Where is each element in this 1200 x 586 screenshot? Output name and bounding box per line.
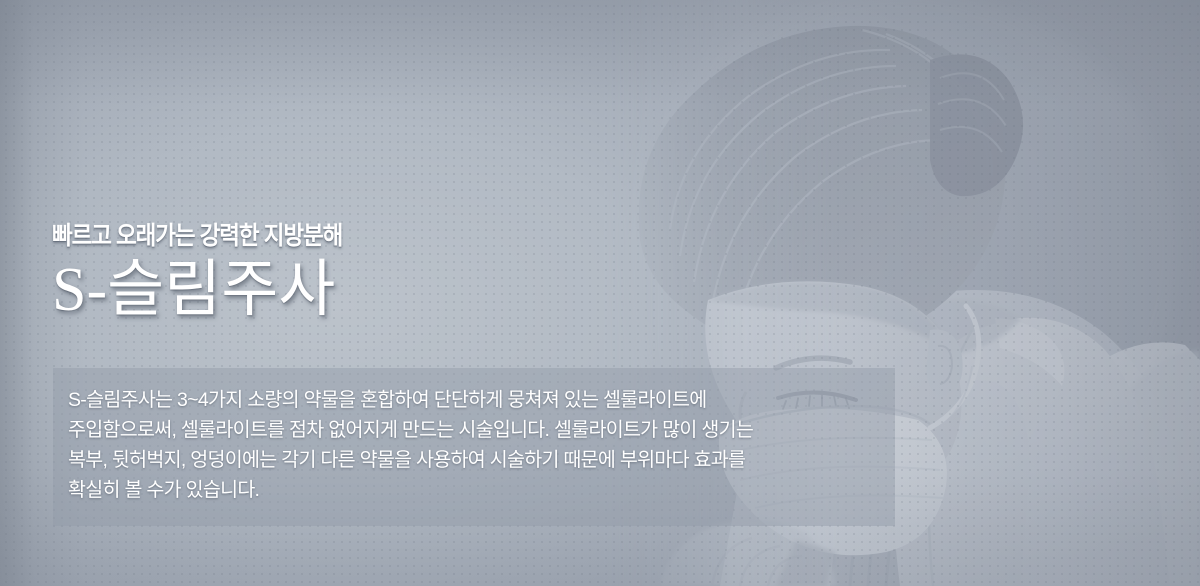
page-title: S-슬림주사 xyxy=(52,258,672,322)
description-line: S-슬림주사는 3~4가지 소량의 약물을 혼합하여 단단하게 뭉쳐져 있는 셀… xyxy=(68,385,888,415)
description-line: 확실히 볼 수가 있습니다. xyxy=(68,475,888,505)
kicker-text: 빠르고 오래가는 강력한 지방분해 xyxy=(52,222,610,250)
promo-banner: 빠르고 오래가는 강력한 지방분해 S-슬림주사 S-슬림주사는 3~4가지 소… xyxy=(0,0,1200,586)
description-line: 복부, 뒷허벅지, 엉덩이에는 각기 다른 약물을 사용하여 시술하기 때문에 … xyxy=(68,445,888,475)
headline-block: 빠르고 오래가는 강력한 지방분해 S-슬림주사 xyxy=(52,222,672,322)
description-text: S-슬림주사는 3~4가지 소량의 약물을 혼합하여 단단하게 뭉쳐져 있는 셀… xyxy=(68,385,888,505)
description-line: 주입함으로써, 셀룰라이트를 점차 없어지게 만드는 시술입니다. 셀룰라이트가… xyxy=(68,415,888,445)
